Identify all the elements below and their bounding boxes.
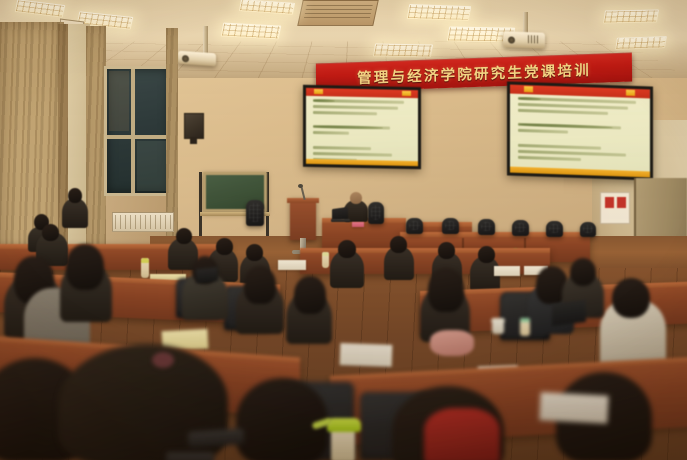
projector-mount-pole xyxy=(203,26,208,54)
slide-footer-bar xyxy=(510,166,650,177)
microphone-head xyxy=(298,184,303,188)
bottle-cap xyxy=(322,252,329,256)
front-chair xyxy=(442,218,459,234)
student-laptop xyxy=(196,267,218,283)
student-head xyxy=(246,244,263,261)
student-head-long-hair xyxy=(244,266,276,304)
notice-stamp xyxy=(617,197,626,208)
projection-screen-left xyxy=(303,85,421,169)
water-bottle xyxy=(322,252,329,268)
projector-lens xyxy=(508,36,515,43)
ceiling-light-panel xyxy=(15,0,66,18)
window-mullion xyxy=(131,69,135,193)
front-chair xyxy=(406,218,423,234)
ceiling-light-panel xyxy=(603,10,659,24)
student-head xyxy=(478,246,495,263)
water-bottle xyxy=(520,318,530,336)
air-conditioning-vent xyxy=(297,0,379,26)
student-head xyxy=(338,240,356,258)
wall-speaker xyxy=(184,113,204,139)
ceiling-light-panel xyxy=(221,23,282,40)
slide-text-block xyxy=(313,99,413,159)
slide-footer-bar xyxy=(306,159,418,167)
presenter-chair xyxy=(368,202,384,224)
drink-cup xyxy=(492,318,504,334)
student-head xyxy=(612,278,650,318)
student-head-long-hair xyxy=(428,268,464,312)
window-mullion xyxy=(107,135,169,139)
slide-content-left xyxy=(306,88,418,166)
student-scarf xyxy=(430,330,474,356)
student-head-long-hair xyxy=(236,378,328,460)
student-head xyxy=(42,224,59,241)
projector-mount-pole xyxy=(523,12,528,34)
slide-text-block xyxy=(518,97,643,168)
chalkboard-leg xyxy=(199,172,202,242)
notice-stamp xyxy=(605,197,614,208)
slide-header-bar xyxy=(306,88,418,98)
student-head-long-hair xyxy=(294,276,326,314)
window-pane xyxy=(104,66,172,196)
front-chair xyxy=(546,221,563,237)
desk-item-pink xyxy=(352,222,364,227)
student-head xyxy=(390,236,407,253)
projector-lens xyxy=(182,55,189,62)
water-bottle xyxy=(141,258,149,278)
projection-screen-right xyxy=(507,81,653,180)
presenter-laptop-base xyxy=(331,219,350,222)
wall-notice-left xyxy=(600,192,630,224)
slide-header-accent xyxy=(626,90,635,96)
projector-vent xyxy=(528,35,540,43)
slide-content-right xyxy=(510,85,650,178)
ceiling-light-panel xyxy=(407,4,472,21)
classroom-photo: 管理与经济学院研究生党课培训 xyxy=(0,0,687,460)
bottle-flip-cap xyxy=(327,418,361,432)
student-head-long-hair xyxy=(66,244,104,290)
slide-header-accent xyxy=(402,91,411,96)
phone xyxy=(166,452,214,460)
wall-radiator xyxy=(112,212,174,232)
window-reflection xyxy=(109,71,129,131)
student-head xyxy=(438,242,455,259)
front-chair xyxy=(478,219,495,235)
student-head xyxy=(216,238,233,255)
notebook xyxy=(340,343,393,367)
presenter-head xyxy=(350,192,362,204)
office-chair xyxy=(246,200,264,226)
hair-tie xyxy=(152,352,174,368)
student-head xyxy=(68,188,82,203)
ceiling-projector-right xyxy=(503,31,545,48)
ceiling-projector-left xyxy=(178,51,216,67)
student-head xyxy=(570,258,596,286)
bottle-cap xyxy=(520,318,530,322)
front-chair xyxy=(512,220,529,236)
student-red-coat xyxy=(424,408,500,460)
notebook xyxy=(278,260,306,270)
ceiling-light-panel xyxy=(239,0,295,15)
student-head xyxy=(176,228,192,244)
window-curtain xyxy=(86,26,106,256)
student-laptop xyxy=(552,300,586,326)
slide-header-accent xyxy=(314,89,323,94)
front-chair xyxy=(580,222,596,237)
cup-lid xyxy=(491,318,505,322)
slide-header-accent xyxy=(524,86,533,92)
notebook xyxy=(494,266,520,276)
bottle-cap xyxy=(141,258,149,263)
water-bottle xyxy=(331,428,355,460)
notebook xyxy=(539,392,608,424)
slide-header-bar xyxy=(510,85,650,99)
lectern xyxy=(290,198,316,240)
